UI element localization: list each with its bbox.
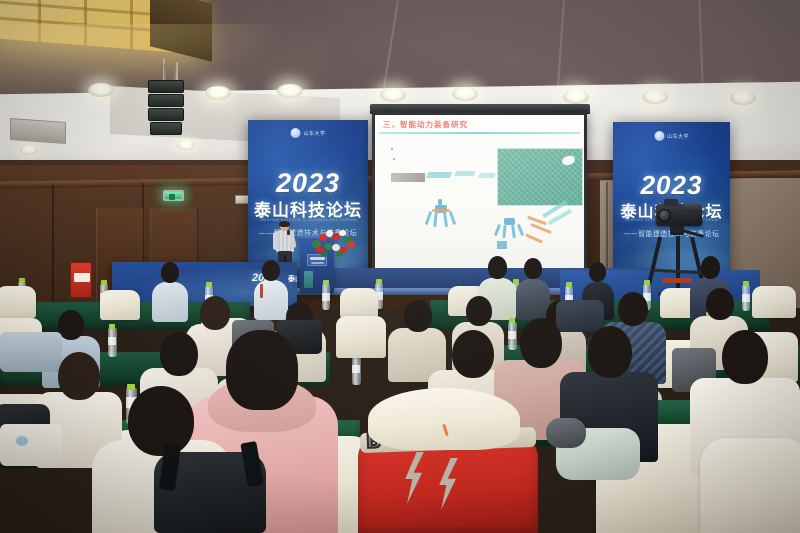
banner-right-university: 山东大学 — [667, 133, 689, 140]
downlight-7 — [563, 90, 589, 104]
slide-dot-1 — [391, 148, 393, 150]
slide-streak-3 — [478, 173, 496, 178]
video-camera-body — [656, 204, 702, 226]
downlight-3 — [452, 87, 478, 101]
downlight-6 — [380, 88, 406, 102]
projection-screen: 三、智能动力装备研究 — [375, 115, 584, 269]
downlight-8 — [730, 91, 756, 105]
chair-second-3 — [336, 316, 386, 358]
university-logo-icon-right — [654, 131, 664, 141]
camera-lens-icon — [658, 209, 671, 222]
tote-logo — [16, 436, 28, 446]
red-jacket-hood — [368, 388, 520, 450]
slide-streak-1 — [426, 172, 452, 178]
front-panel-title: 泰山科技论坛 — [288, 274, 297, 284]
banner-left-english: TAISHAN SCIENCE & TECHNOLOGY FORUM — [248, 218, 368, 222]
downlight-9 — [20, 145, 38, 155]
slide-orange-bar-3 — [525, 233, 543, 243]
exit-sign-icon — [163, 190, 184, 201]
university-logo-icon — [290, 128, 300, 138]
bag-light-right — [546, 418, 586, 448]
chair-back-2 — [100, 290, 140, 320]
downlight-1 — [88, 83, 114, 97]
slide-accent-bar — [497, 241, 507, 249]
fire-extinguisher-box — [70, 262, 92, 298]
slide-title: 三、智能动力装备研究 — [383, 119, 576, 130]
slide-divider-rule — [379, 132, 580, 134]
slide-streak-2 — [454, 171, 476, 176]
banner-left-university: 山东大学 — [303, 130, 325, 137]
ceiling-air-vent — [10, 118, 66, 144]
chair-back-6 — [752, 286, 796, 318]
flower-arrangement — [310, 228, 356, 258]
downlight-4 — [642, 90, 668, 104]
water-bottle-s4 — [352, 356, 361, 385]
tote-white-left — [0, 424, 62, 466]
projection-screen-frame: 三、智能动力装备研究 — [372, 112, 587, 272]
slide-image-block — [497, 148, 583, 206]
audience-person-b1 — [152, 262, 188, 320]
downlight-12 — [177, 140, 195, 150]
chair-back-1 — [0, 286, 36, 318]
chair-foreground-right — [700, 438, 800, 533]
downlight-2 — [277, 84, 303, 98]
downlight-5 — [205, 86, 231, 100]
slide-robot-right — [493, 213, 527, 241]
wall-seam-1 — [52, 185, 54, 310]
conference-hall-photo: 山东大学 2023 泰山科技论坛 TAISHAN SCIENCE & TECHN… — [0, 0, 800, 533]
slide-dot-2 — [393, 158, 395, 160]
chair-back-3 — [340, 288, 378, 318]
slide-gray-bar — [391, 173, 425, 182]
line-array-speaker-stack — [148, 80, 184, 128]
banner-left-year: 2023 — [248, 168, 368, 199]
slide-robot-left — [423, 199, 459, 231]
